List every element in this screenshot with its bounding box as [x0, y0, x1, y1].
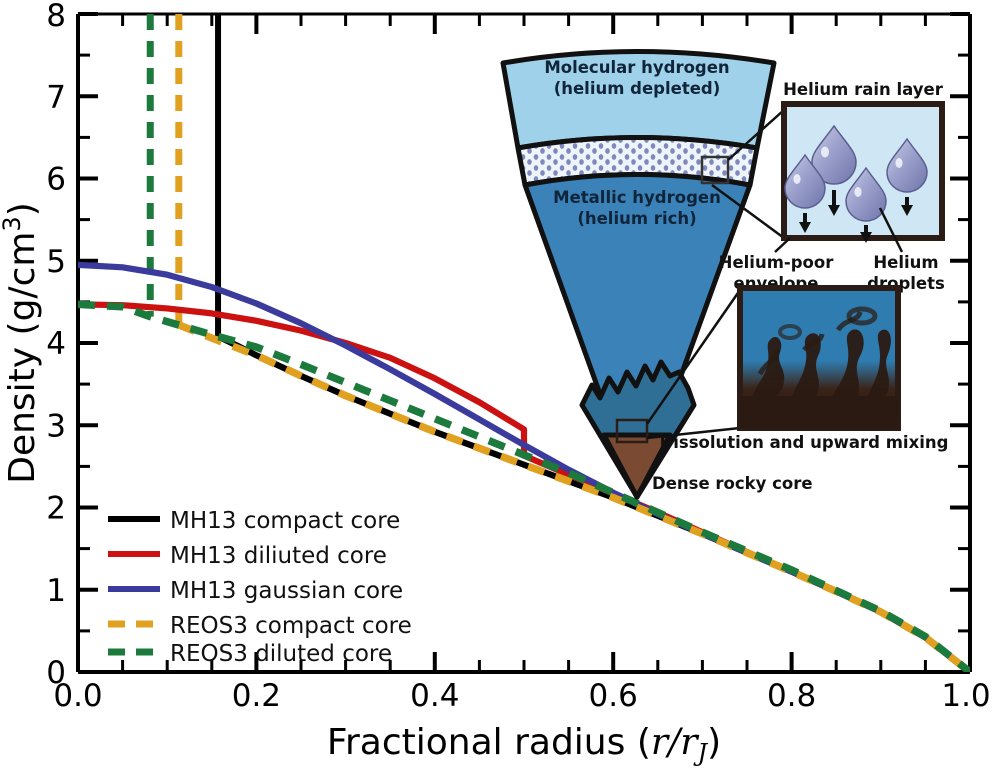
y-tick-label: 6: [46, 162, 66, 198]
y-axis-title-text: Density (g/cm: [2, 232, 43, 484]
legend-label: REOS3 diluted core: [170, 641, 392, 667]
wedge-metallic-label-line2: (helium rich): [577, 209, 696, 228]
y-tick-label: 5: [46, 244, 66, 280]
y-tick-label: 1: [46, 573, 66, 609]
x-axis-title: Fractional radius (r/rJ): [327, 722, 721, 767]
y-tick-label: 8: [46, 0, 66, 34]
y-tick-label: 3: [46, 408, 66, 444]
figure-root: 0.0 0.2 0.4 0.6 0.8 1.0 0 1 2 3 4 5 6 7 …: [0, 0, 996, 768]
mixing-panel-caption: Dissolution and upward mixing: [660, 433, 949, 452]
y-tick-label: 4: [46, 326, 66, 362]
figure-svg: 0.0 0.2 0.4 0.6 0.8 1.0 0 1 2 3 4 5 6 7 …: [0, 0, 996, 768]
x-tick-label: 0.6: [589, 678, 638, 714]
y-tick-label: 0: [46, 655, 66, 691]
y-axis-title: Density (g/cm3): [0, 202, 43, 484]
wedge-molecular-label-line1: Molecular hydrogen: [544, 58, 729, 77]
wedge-molecular-label-line2: (helium depleted): [554, 79, 721, 98]
legend-label: MH13 diliuted core: [170, 543, 387, 569]
legend-label: MH13 gaussian core: [170, 578, 403, 604]
x-axis-title-text: Fractional radius (: [327, 722, 651, 763]
wedge-metallic-label-line1: Metallic hydrogen: [553, 188, 721, 207]
y-tick-label: 2: [46, 491, 66, 527]
x-tick-label: 0.2: [232, 678, 281, 714]
wedge-rocky-core-label: Dense rocky core: [652, 474, 813, 493]
svg-text:Density (g/cm3): Density (g/cm3): [0, 202, 43, 484]
x-axis-title-rj: r: [680, 722, 699, 763]
y-tick-labels: 0 1 2 3 4 5 6 7 8: [46, 0, 66, 691]
x-tick-label: 1.0: [941, 678, 990, 714]
y-axis-title-superscript: 3: [0, 216, 26, 231]
legend-label: MH13 compact core: [170, 508, 400, 534]
x-axis-title-close: ): [707, 722, 721, 763]
helium-droplets-label-line1: Helium: [873, 253, 938, 272]
x-tick-label: 0.4: [410, 678, 459, 714]
rain-panel-title: Helium rain layer: [783, 80, 944, 99]
legend-label: REOS3 compact core: [170, 613, 412, 639]
x-axis-title-r: r: [651, 722, 670, 763]
helium-poor-label-line1: Helium-poor: [719, 253, 835, 272]
y-axis-title-close: ): [2, 202, 43, 216]
y-tick-label: 7: [46, 79, 66, 115]
svg-text:Fractional radius (r/rJ): Fractional radius (r/rJ): [327, 722, 721, 767]
x-tick-label: 0.8: [767, 678, 816, 714]
